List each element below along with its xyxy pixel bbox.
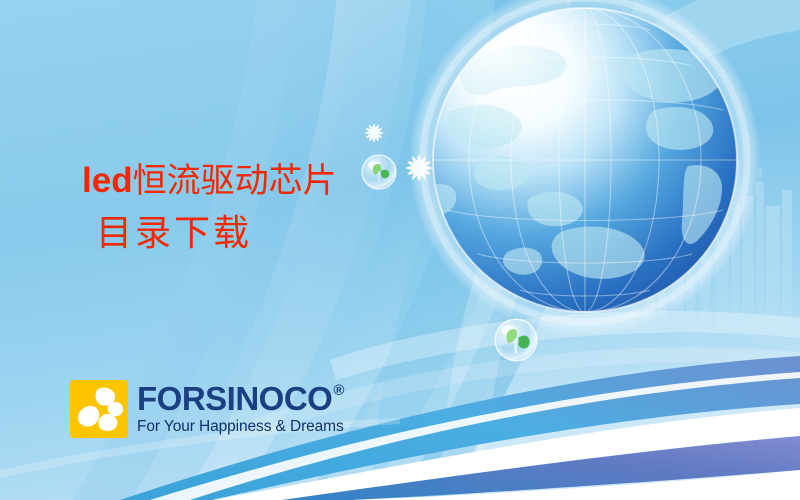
- logo-tagline: For Your Happiness & Dreams: [137, 418, 344, 436]
- logo-wordmark: FORSINOCO: [137, 382, 332, 415]
- logo-wordmark-row: FORSINOCO®: [137, 382, 344, 415]
- registered-trademark-icon: ®: [333, 383, 344, 398]
- logo-text-block: FORSINOCO® For Your Happiness & Dreams: [137, 382, 344, 436]
- brand-logo: FORSINOCO® For Your Happiness & Dreams: [70, 380, 344, 438]
- poster-canvas: led恒流驱动芯片 目录下载 FORSINOCO® For Your Happi…: [0, 0, 800, 500]
- logo-mark-icon: [70, 380, 128, 438]
